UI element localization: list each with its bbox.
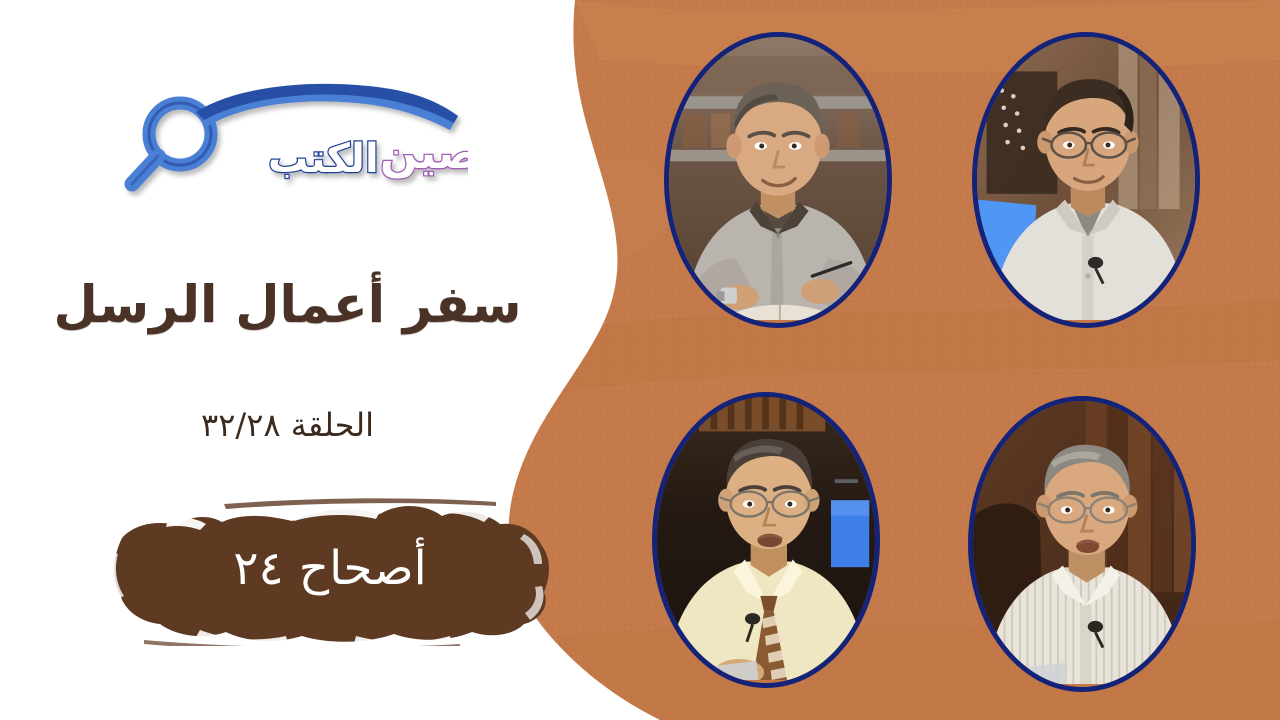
guest-2-portrait bbox=[977, 37, 1195, 320]
logo-artwork: فاحصين الكتب bbox=[118, 72, 468, 217]
guest-photo-bottom-left bbox=[652, 392, 880, 688]
program-title: سفر أعمال الرسل bbox=[0, 274, 575, 338]
guest-4-portrait bbox=[973, 401, 1191, 684]
guest-1-portrait bbox=[669, 37, 887, 320]
title-card: فاحصين الكتب سفر أعمال الرسل الحلقة ٣٢/٢… bbox=[0, 0, 1280, 720]
guest-photo-bottom-right bbox=[968, 396, 1196, 692]
chapter-badge-label: أصحاح ٢٤ bbox=[104, 494, 556, 646]
program-logo: فاحصين الكتب bbox=[118, 72, 468, 217]
guest-3-portrait bbox=[657, 397, 875, 680]
guest-photo-top-left bbox=[664, 32, 892, 328]
guest-photo-top-right bbox=[972, 32, 1200, 328]
logo-word-primary: فاحصين bbox=[380, 128, 468, 179]
chapter-badge: أصحاح ٢٤ bbox=[104, 494, 556, 646]
logo-word-secondary: الكتب bbox=[268, 136, 379, 182]
episode-label: الحلقة ٣٢/٢٨ bbox=[0, 405, 575, 447]
